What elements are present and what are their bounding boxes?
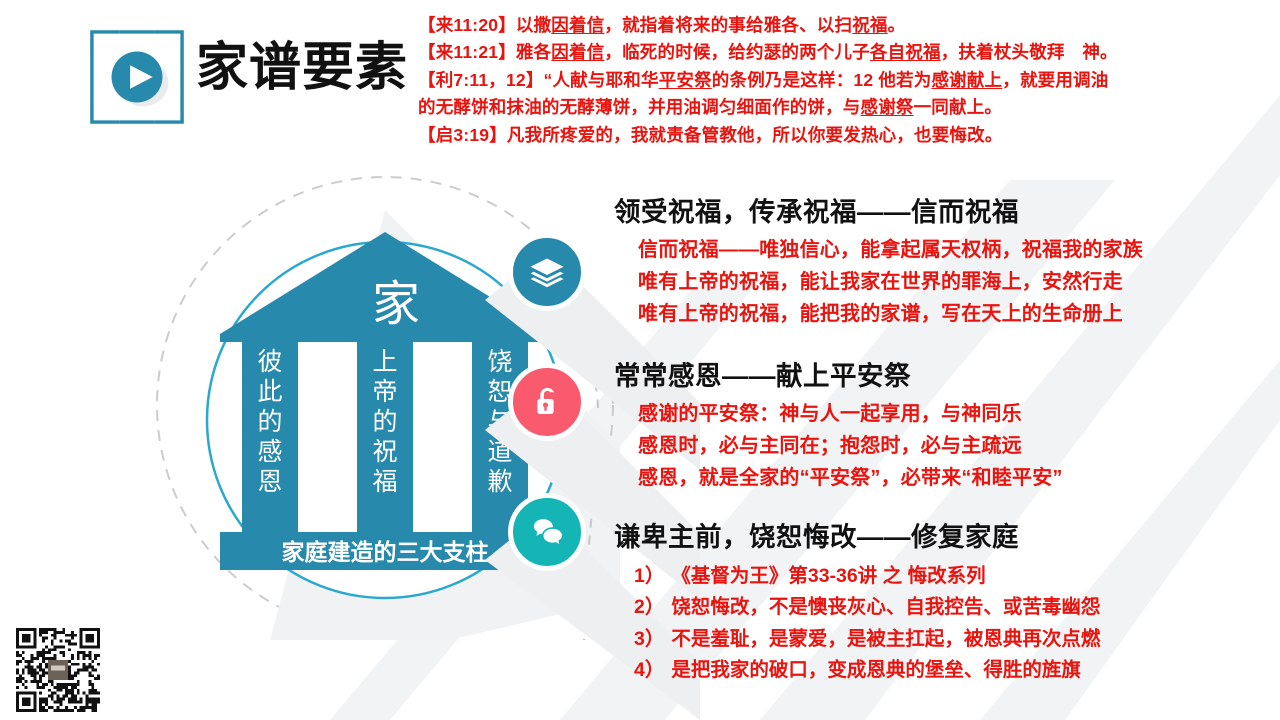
layers-icon xyxy=(529,254,565,290)
section-thanksgiving: 常常感恩——献上平安祭 感谢的平安祭：神与人一起享用，与神同乐 感恩时，必与主同… xyxy=(614,362,1063,495)
scripture-block: 【来11:20】以撒因着信，就指着将来的事给雅各、以扫祝福。 【来11:21】雅… xyxy=(418,12,1278,149)
section-line: 信而祝福——唯独信心，能拿起属天权柄，祝福我的家族 xyxy=(638,234,1143,266)
scripture-text: 【来11:20】以撒 xyxy=(418,15,551,35)
scripture-text: 【来11:21】雅各 xyxy=(418,42,551,62)
play-button-in-square-icon xyxy=(88,28,186,126)
section-blessing: 领受祝福，传承祝福——信而祝福 信而祝福——唯独信心，能拿起属天权柄，祝福我的家… xyxy=(614,198,1143,331)
connector-dashed-3 xyxy=(548,622,588,640)
section-line: 感恩时，必与主同在；抱怨时，必与主疏远 xyxy=(638,430,1063,462)
list-item-text: 是把我家的破口，变成恩典的堡垒、得胜的旌旗 xyxy=(671,655,1081,687)
temple-base-label: 家庭建造的三大支柱 xyxy=(282,539,489,565)
slide-canvas: 家谱要素 【来11:20】以撒因着信，就指着将来的事给雅各、以扫祝福。 【来11… xyxy=(0,0,1280,720)
scripture-emphasis: 祝福 xyxy=(852,15,887,35)
section-heading: 常常感恩——献上平安祭 xyxy=(614,362,1063,392)
section-line: 感谢的平安祭：神与人一起享用，与神同乐 xyxy=(638,398,1063,430)
scripture-emphasis: 平安祭 xyxy=(659,70,712,90)
temple-pillar-label: 彼此的感恩 xyxy=(257,348,282,496)
list-item-text: 饶恕悔改，不是懊丧灰心、自我控告、或苦毒幽怨 xyxy=(671,592,1100,624)
temple-pillar-label: 上帝的祝福 xyxy=(372,348,397,496)
list-item-text: 《基督为王》第33-36讲 之 悔改系列 xyxy=(671,561,985,593)
scripture-text: ，扶着杖头敬拜 神。 xyxy=(941,42,1118,62)
node-blessing-layers[interactable] xyxy=(508,233,586,311)
list-item: 2） 饶恕悔改，不是懊丧灰心、自我控告、或苦毒幽怨 xyxy=(634,592,1100,624)
scripture-emphasis: 因着信 xyxy=(551,15,604,35)
scripture-emphasis: 感谢祭 xyxy=(861,97,914,117)
speech-bubbles-icon xyxy=(529,514,565,550)
section-line: 唯有上帝的祝福，能把我的家谱，写在天上的生命册上 xyxy=(638,298,1143,330)
section-line: 感恩，就是全家的“平安祭”，必带来“和睦平安” xyxy=(638,462,1063,494)
scripture-text: 的无酵饼和抹油的无酵薄饼，并用油调匀细面作的饼，与 xyxy=(418,97,861,117)
temple-pillar-label: 饶恕与道歉 xyxy=(487,348,512,496)
scripture-text: 的条例乃是这样：12 他若为 xyxy=(712,70,932,90)
list-item-number: 4） xyxy=(634,655,664,687)
scripture-text: ，就要用调油 xyxy=(1002,70,1108,90)
scripture-text: ，就指着将来的事给雅各、以扫 xyxy=(604,15,852,35)
section-body: 感谢的平安祭：神与人一起享用，与神同乐 感恩时，必与主同在；抱怨时，必与主疏远 … xyxy=(614,398,1063,495)
scripture-text: 一同献上。 xyxy=(914,97,1003,117)
node-thanksgiving-unlock[interactable] xyxy=(508,363,586,441)
section-heading: 领受祝福，传承祝福——信而祝福 xyxy=(614,198,1143,228)
temple-graphic: 家 彼此的感恩 上帝的祝福 饶恕与道歉 家庭建造的三大支柱 xyxy=(220,232,550,570)
list-item: 1） 《基督为王》第33-36讲 之 悔改系列 xyxy=(634,561,1100,593)
list-item-text: 不是羞耻，是蒙爱，是被主扛起，被恩典再次点燃 xyxy=(671,624,1100,656)
scripture-line: 【启3:19】凡我所疼爱的，我就责备管教他，所以你要发热心，也要悔改。 xyxy=(418,122,1278,149)
list-item: 3） 不是羞耻，是蒙爱，是被主扛起，被恩典再次点燃 xyxy=(634,624,1100,656)
scripture-line: 的无酵饼和抹油的无酵薄饼，并用油调匀细面作的饼，与感谢祭一同献上。 xyxy=(418,94,1278,121)
scripture-text: 【启3:19】凡我所疼爱的，我就责备管教他，所以你要发热心，也要悔改。 xyxy=(418,125,1003,145)
page-title: 家谱要素 xyxy=(196,42,408,94)
list-item-number: 2） xyxy=(634,592,664,624)
scripture-line: 【来11:21】雅各因着信，临死的时候，给约瑟的两个儿子各自祝福，扶着杖头敬拜 … xyxy=(418,39,1278,66)
node-repentance-chat[interactable] xyxy=(508,493,586,571)
section-body: 1） 《基督为王》第33-36讲 之 悔改系列 2） 饶恕悔改，不是懊丧灰心、自… xyxy=(614,561,1100,687)
scripture-emphasis: 感谢献上 xyxy=(931,70,1002,90)
list-item-number: 1） xyxy=(634,561,664,593)
unlock-padlock-icon xyxy=(529,384,565,420)
section-line: 唯有上帝的祝福，能让我家在世界的罪海上，安然行走 xyxy=(638,266,1143,298)
scripture-emphasis: 因着信 xyxy=(551,42,604,62)
scripture-text: 。 xyxy=(888,15,906,35)
temple-pediment-label: 家 xyxy=(372,278,420,331)
list-item: 4） 是把我家的破口，变成恩典的堡垒、得胜的旌旗 xyxy=(634,655,1100,687)
qr-code[interactable] xyxy=(16,628,100,712)
scripture-emphasis: 各自祝福 xyxy=(870,42,941,62)
scripture-text: 【利7:11，12】“人献与耶和华 xyxy=(418,70,659,90)
section-heading: 谦卑主前，饶恕悔改——修复家庭 xyxy=(614,523,1100,553)
scripture-line: 【利7:11，12】“人献与耶和华平安祭的条例乃是这样：12 他若为感谢献上，就… xyxy=(418,67,1278,94)
section-repentance: 谦卑主前，饶恕悔改——修复家庭 1） 《基督为王》第33-36讲 之 悔改系列 … xyxy=(614,523,1100,687)
section-body: 信而祝福——唯独信心，能拿起属天权柄，祝福我的家族 唯有上帝的祝福，能让我家在世… xyxy=(614,234,1143,331)
scripture-line: 【来11:20】以撒因着信，就指着将来的事给雅各、以扫祝福。 xyxy=(418,12,1278,39)
scripture-text: ，临死的时候，给约瑟的两个儿子 xyxy=(604,42,870,62)
list-item-number: 3） xyxy=(634,624,664,656)
